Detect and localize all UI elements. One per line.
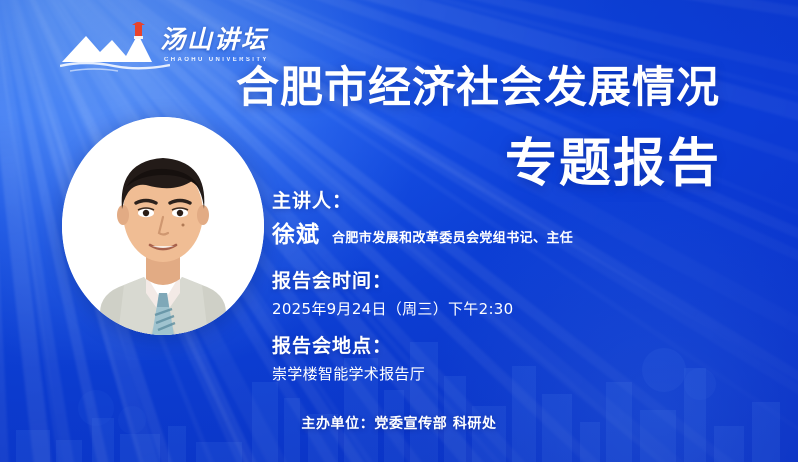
place-label: 报告会地点： xyxy=(272,333,573,359)
page-title-line1: 合肥市经济社会发展情况 xyxy=(236,62,720,114)
page-title-line2: 专题报告 xyxy=(505,133,721,195)
event-details: 主讲人： 徐斌 合肥市发展和改革委员会党组书记、主任 报告会时间： 2025年9… xyxy=(272,188,573,386)
mountain-pagoda-icon xyxy=(60,22,170,74)
organizer-footer: 主办单位：党委宣传部 科研处 xyxy=(0,414,798,434)
speaker-label: 主讲人： xyxy=(272,188,573,214)
brand-name-cn: 汤山讲坛 xyxy=(160,26,268,54)
speaker-row: 徐斌 合肥市发展和改革委员会党组书记、主任 xyxy=(272,220,573,254)
time-label: 报告会时间： xyxy=(272,268,573,294)
brand-logo[interactable]: 汤山讲坛 CHAOHU UNIVERSITY xyxy=(60,22,245,80)
event-poster: 汤山讲坛 CHAOHU UNIVERSITY xyxy=(0,0,798,462)
place-value: 崇学楼智能学术报告厅 xyxy=(272,362,573,386)
speaker-portrait xyxy=(62,117,264,335)
portrait-illustration xyxy=(62,117,264,335)
speaker-title: 合肥市发展和改革委员会党组书记、主任 xyxy=(332,224,573,254)
speaker-name: 徐斌 xyxy=(272,220,320,250)
time-value: 2025年9月24日（周三）下午2:30 xyxy=(272,297,573,321)
